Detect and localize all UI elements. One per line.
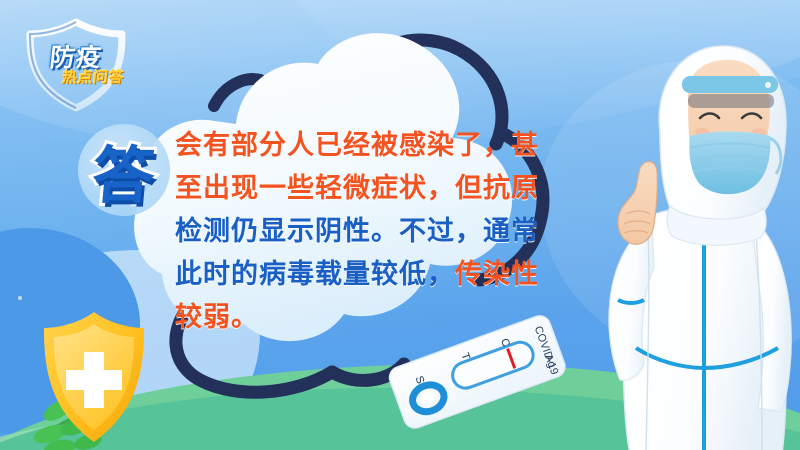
brand-logo: 防疫 热点问答	[14, 16, 156, 114]
face-shield-band	[682, 76, 778, 93]
answer-line-4: 此时的病毒载量较低，传染性	[175, 253, 595, 296]
answer-line-4-text: 此时的病毒载量较低，	[175, 259, 455, 289]
medical-worker-illustration	[596, 36, 800, 450]
answer-line-2-text: 至出现一些轻微症状，但抗原	[175, 173, 539, 203]
logo-subtitle: 热点问答	[61, 66, 125, 87]
infographic-poster: 答 会有部分人已经被感染了，甚 至出现一些轻微症状，但抗原 检测仍显示阴性。不过…	[0, 0, 800, 450]
answer-badge-label: 答	[68, 120, 181, 220]
answer-line-3-text: 检测仍显示阴性。不过，通常	[175, 216, 539, 246]
answer-badge: 答	[72, 118, 176, 222]
pointing-hand	[618, 162, 657, 245]
answer-line-4-tail: 传染性	[455, 259, 539, 289]
answer-line-1: 会有部分人已经被感染了，甚	[175, 124, 595, 167]
answer-line-2: 至出现一些轻微症状，但抗原	[175, 167, 595, 210]
decorative-dot	[18, 296, 22, 300]
shield-emblem	[36, 308, 152, 448]
antigen-test-kit: S T C COVID-19 Ag	[378, 306, 578, 448]
answer-line-5-text: 较弱。	[175, 302, 259, 332]
answer-line-1-text: 会有部分人已经被感染了，甚	[175, 130, 539, 160]
goggle-shadow	[688, 94, 774, 108]
answer-line-3: 检测仍显示阴性。不过，通常	[175, 210, 595, 253]
